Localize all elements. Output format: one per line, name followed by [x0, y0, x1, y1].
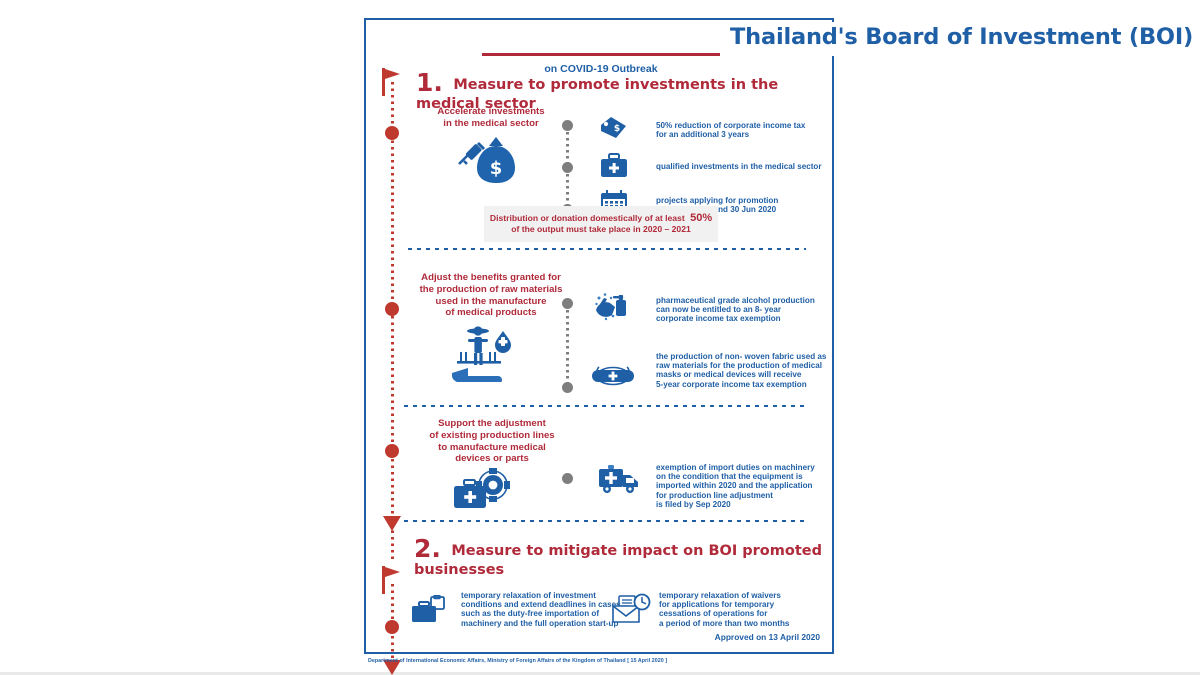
block-3-title: Support the adjustment of existing produ…	[412, 418, 572, 465]
bullet-1-1-text: 50% reduction of corporate income tax fo…	[656, 121, 805, 139]
bullet-2-1-text: pharmaceutical grade alcohol production …	[656, 296, 815, 324]
block-1-title-group: Accelerate investments in the medical se…	[411, 106, 571, 130]
bullet-1-2-text: qualified investments in the medical sec…	[656, 162, 822, 171]
flag-icon-2	[380, 566, 402, 594]
block-1-title: Accelerate investments in the medical se…	[411, 106, 571, 130]
rail-arrow-icon	[383, 516, 401, 531]
price-tag-dollar-icon: $	[598, 116, 628, 140]
ambulance-icon	[598, 463, 642, 495]
rail-marker-dot	[385, 302, 399, 316]
approval-date: Approved on 13 April 2020	[715, 632, 820, 642]
block-3-title-group: Support the adjustment of existing produ…	[412, 418, 572, 465]
note-line1-pre: Distribution or donation domestically of…	[490, 213, 685, 223]
section-1-number: 1.	[416, 68, 443, 97]
source-credit: Department of International Economic Aff…	[368, 658, 667, 664]
farmer-hand-water-icon	[448, 324, 520, 382]
note-line1-percent: 50%	[690, 212, 712, 224]
bullet-3-1-text: exemption of import duties on machinery …	[656, 463, 815, 509]
envelope-clock-icon	[611, 593, 653, 625]
section-2-item-2-text: temporary relaxation of waivers for appl…	[659, 591, 789, 628]
poster-title-area: Thailand's Board of Investment (BOI) Mea…	[730, 22, 1200, 56]
divider-2	[404, 405, 804, 407]
title-underline	[482, 53, 720, 56]
rail-marker-dot	[385, 126, 399, 140]
distribution-note-box: Distribution or donation domestically of…	[484, 206, 718, 242]
briefcase-icon	[411, 595, 449, 625]
rail-dotted-line	[391, 82, 394, 562]
note-line2: of the output must take place in 2020 – …	[511, 224, 691, 234]
divider-1	[408, 248, 806, 250]
rail-marker-dot	[385, 620, 399, 634]
page-title: Thailand's Board of Investment (BOI) Mea…	[730, 24, 1200, 50]
medical-kit-icon	[600, 153, 628, 179]
poster-frame: Thailand's Board of Investment (BOI) Mea…	[364, 18, 834, 654]
bullet-2-2-text: the production of non- woven fabric used…	[656, 352, 826, 389]
divider-3	[404, 520, 804, 522]
section-2-header: 2. Measure to mitigate impact on BOI pro…	[414, 536, 832, 579]
block-2-title: Adjust the benefits granted for the prod…	[406, 272, 576, 319]
timeline-rail	[379, 54, 405, 634]
medical-kit-gear-icon	[452, 468, 512, 516]
svg-text:$: $	[614, 124, 620, 134]
infographic-page: Thailand's Board of Investment (BOI) Mea…	[0, 0, 1200, 675]
hand-sanitizer-icon	[594, 292, 630, 324]
syringe-money-bag-icon: $	[456, 134, 518, 184]
rail-marker-dot	[385, 444, 399, 458]
svg-text:$: $	[490, 158, 503, 179]
face-mask-icon	[590, 364, 636, 388]
flag-icon	[380, 68, 402, 96]
section-2-item-1-text: temporary relaxation of investment condi…	[461, 591, 621, 628]
section-2-number: 2.	[414, 534, 441, 563]
section-2-heading: Measure to mitigate impact on BOI promot…	[414, 543, 822, 578]
block-2-title-group: Adjust the benefits granted for the prod…	[406, 272, 576, 319]
